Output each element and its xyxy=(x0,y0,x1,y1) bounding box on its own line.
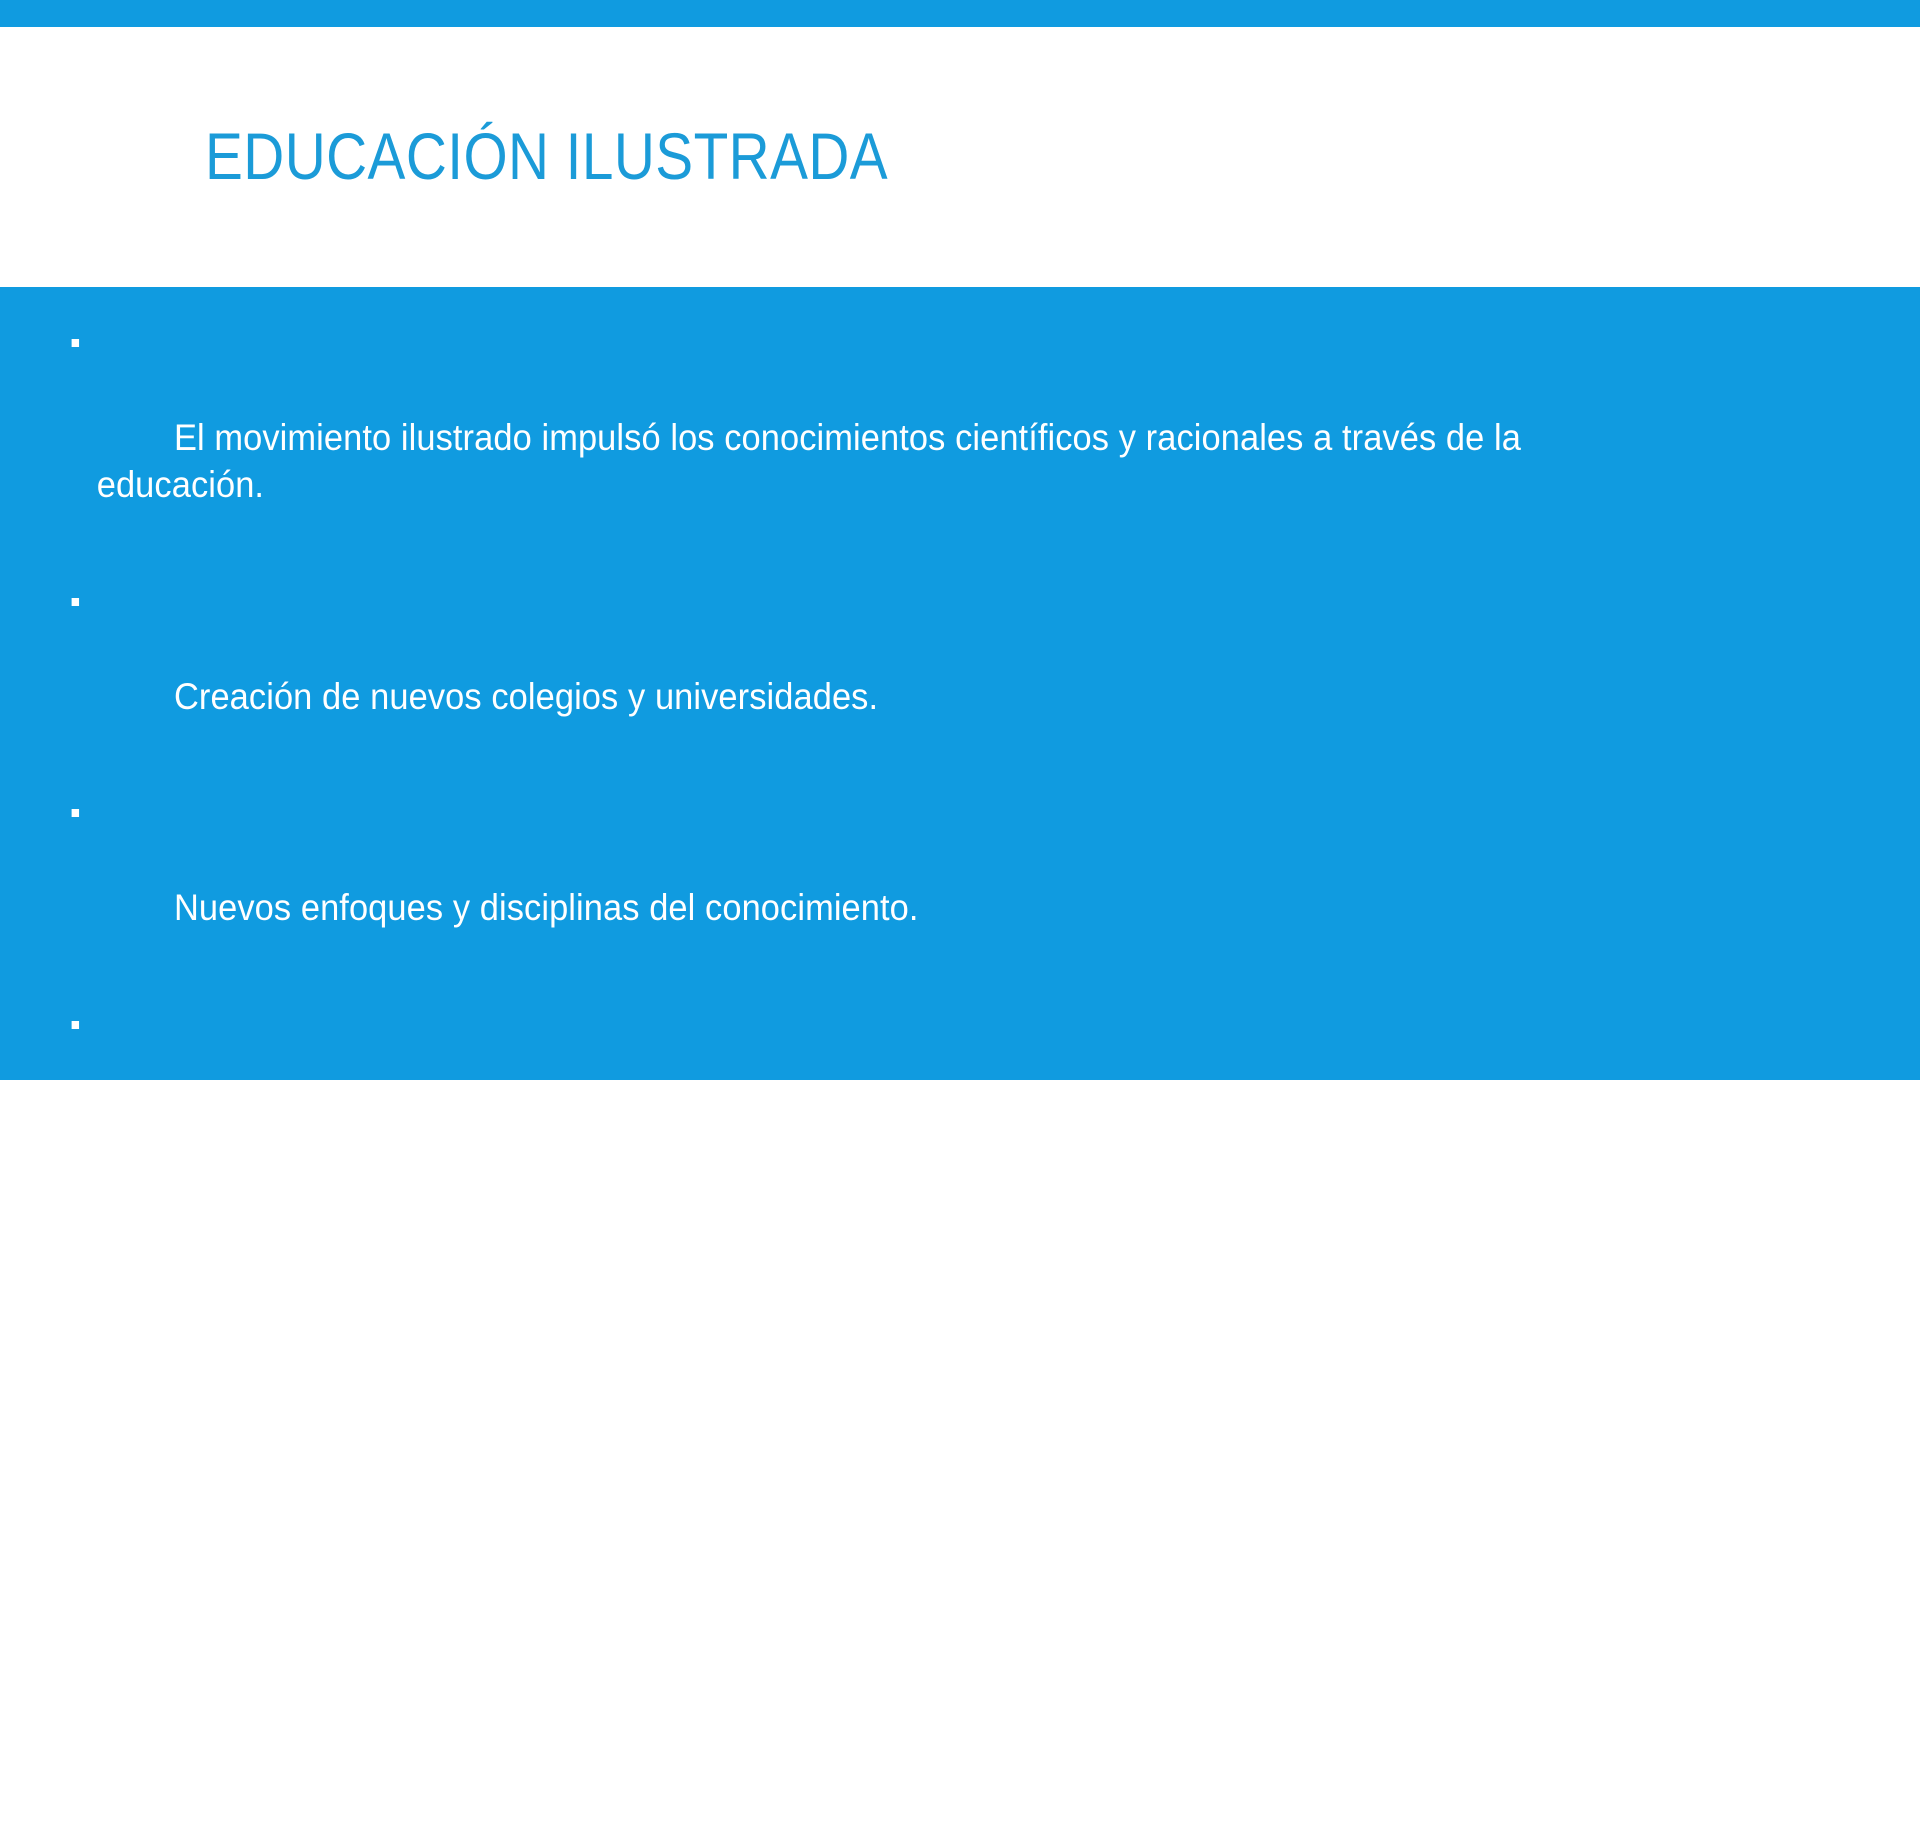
presentation-slide: EDUCACIÓN ILUSTRADA El movimiento ilustr… xyxy=(0,0,1920,1080)
title-band: EDUCACIÓN ILUSTRADA xyxy=(0,27,1920,287)
square-bullet-icon xyxy=(72,1021,79,1029)
list-item: Nuevos enfoques y disciplinas del conoci… xyxy=(0,789,1786,978)
list-item: Pestalozzi: escuelas felices opuestas a … xyxy=(0,1635,1786,1824)
square-bullet-icon xyxy=(72,1444,79,1452)
list-item-text: Nuevos enfoques y disciplinas del conoci… xyxy=(174,887,919,928)
list-item-text: Rousseau: la enseñanza debía resaltar la… xyxy=(174,1521,1202,1562)
list-item: El movimiento ilustrado impulsó los cono… xyxy=(0,319,1786,556)
list-item-text: La educación buscaba ser racional y expe… xyxy=(174,1098,953,1139)
list-item: Creación de nuevos colegios y universida… xyxy=(0,578,1786,767)
content-band: El movimiento ilustrado impulsó los cono… xyxy=(0,287,1920,1080)
list-item-text: Pestalozzi: escuelas felices opuestas a … xyxy=(174,1733,1385,1774)
list-item: Las ideas de Rousseau y Pestalozzi impul… xyxy=(0,1212,1786,1401)
bullet-list: El movimiento ilustrado impulsó los cono… xyxy=(0,287,1920,1846)
top-accent-bar xyxy=(0,0,1920,27)
list-item: Rousseau: la enseñanza debía resaltar la… xyxy=(0,1424,1786,1613)
square-bullet-icon xyxy=(72,1655,79,1663)
page-title: EDUCACIÓN ILUSTRADA xyxy=(205,122,888,191)
square-bullet-icon xyxy=(72,598,79,606)
list-item-text: El movimiento ilustrado impulsó los cono… xyxy=(97,417,1531,505)
list-item-text: Las ideas de Rousseau y Pestalozzi impul… xyxy=(174,1310,1511,1351)
square-bullet-icon xyxy=(72,1232,79,1240)
list-item: La educación buscaba ser racional y expe… xyxy=(0,1001,1786,1190)
square-bullet-icon xyxy=(72,809,79,817)
square-bullet-icon xyxy=(72,339,79,347)
list-item-text: Creación de nuevos colegios y universida… xyxy=(174,676,878,717)
